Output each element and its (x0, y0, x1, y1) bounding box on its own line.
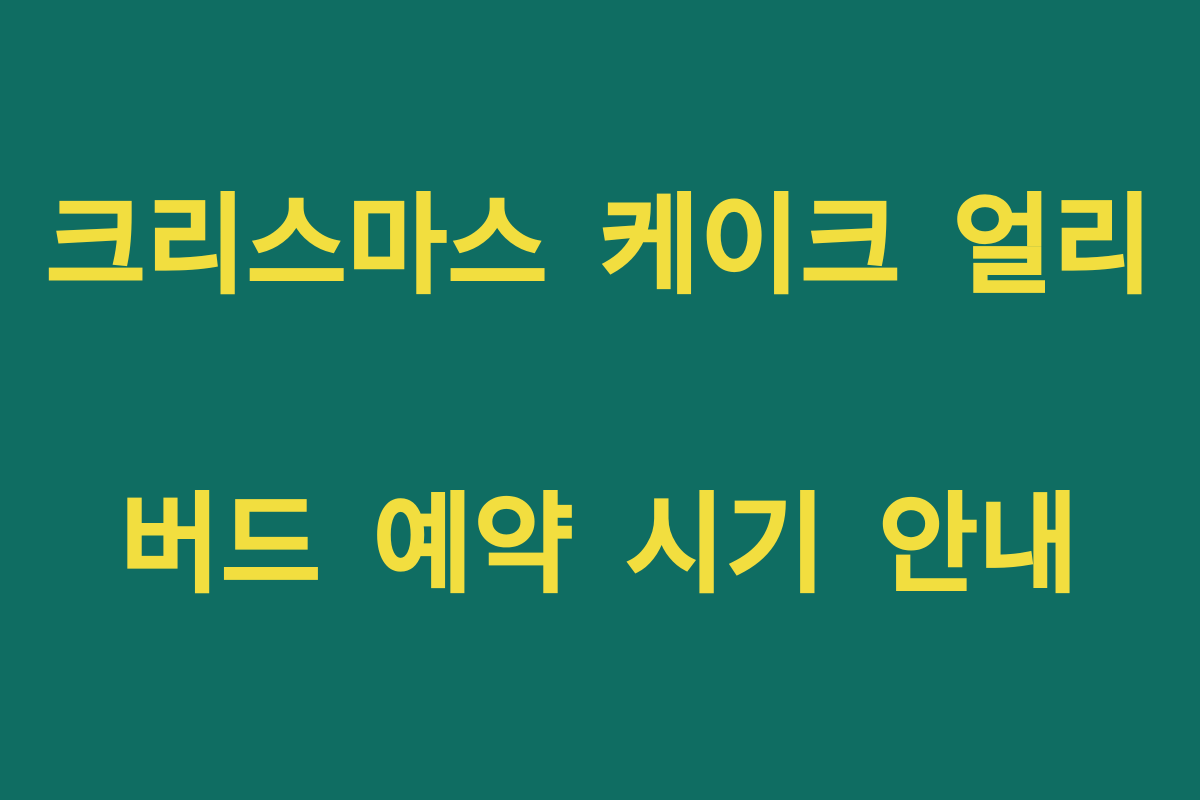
page-title-line-2: 버드 예약 시기 안내 (40, 471, 1160, 620)
banner-canvas: 크리스마스 케이크 얼리 버드 예약 시기 안내 (0, 0, 1200, 800)
page-title: 크리스마스 케이크 얼리 버드 예약 시기 안내 (0, 23, 1200, 768)
page-title-line-1: 크리스마스 케이크 얼리 (40, 172, 1160, 321)
